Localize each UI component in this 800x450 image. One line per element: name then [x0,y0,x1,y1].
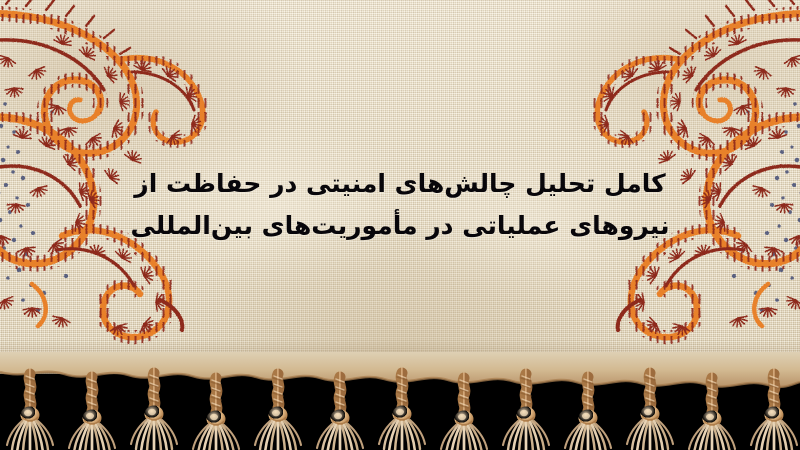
fabric-bottom-shadow [0,340,800,374]
fabric-panel [0,0,800,374]
banner-canvas: کامل تحلیل چالش‌های امنیتی در حفاظت از ن… [0,0,800,450]
black-background-band [0,374,800,450]
